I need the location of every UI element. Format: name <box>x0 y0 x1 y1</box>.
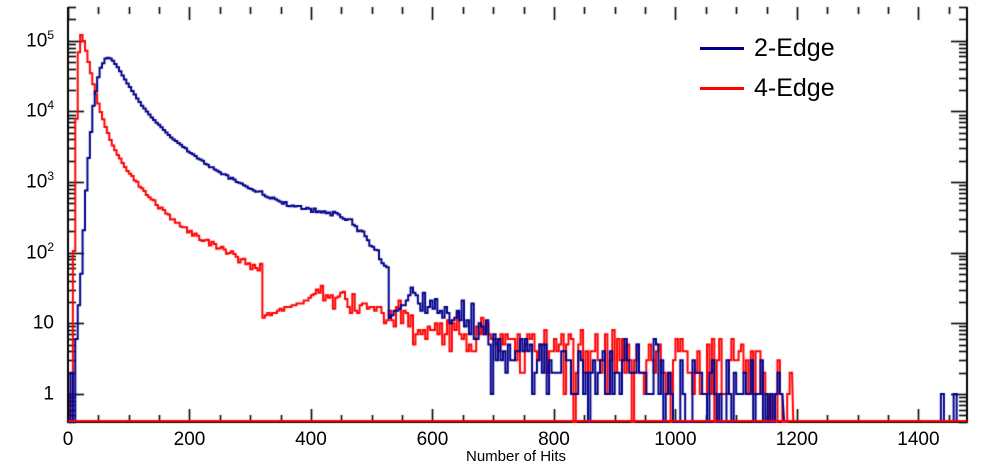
histogram-plot: 110102103104105 020040060080010001200140… <box>0 0 996 472</box>
histogram-canvas <box>0 0 996 472</box>
